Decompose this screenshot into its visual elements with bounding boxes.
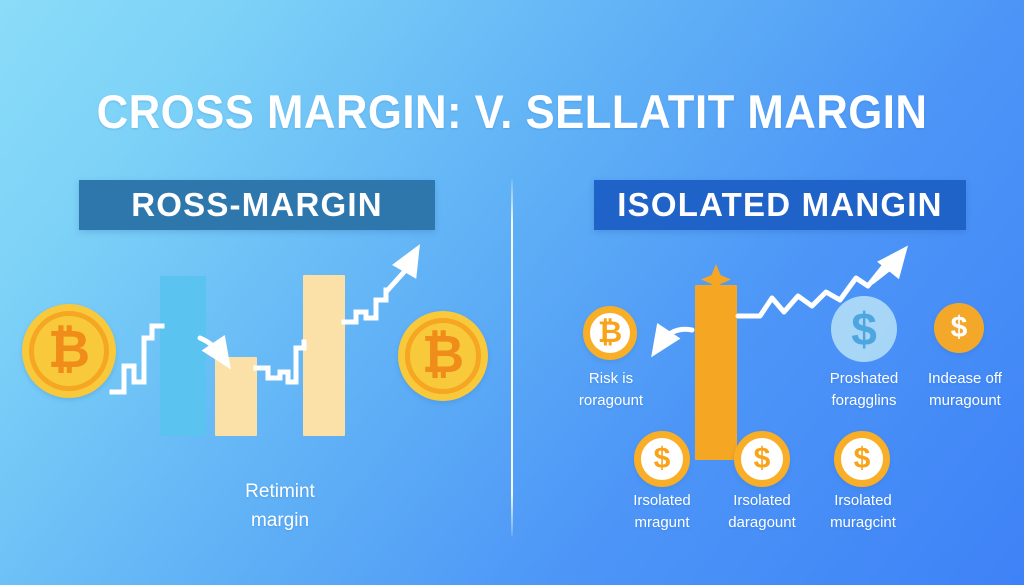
dollar-icon: $ [854, 444, 871, 474]
coin-btc-risk: ₿ [583, 306, 637, 360]
banner-cross-margin: ROSS-MARGIN [79, 180, 435, 230]
right-up-arrow [872, 258, 898, 282]
dollar-icon: $ [951, 313, 968, 343]
left-step-line-a [112, 326, 162, 392]
page-title: CROSS MARGIN: V. SELLATIT MARGIN [36, 84, 988, 139]
bitcoin-coin-right: ₿ [398, 311, 488, 401]
label-risk: Risk is roragount [563, 368, 659, 412]
label-line-2: roragount [563, 390, 659, 412]
label-line-1: Irsolated [710, 490, 814, 512]
bitcoin-icon: ₿ [422, 329, 464, 381]
label-line-1: Irsolated [812, 490, 914, 512]
left-step-line-c [344, 290, 386, 322]
bitcoin-icon: ₿ [48, 324, 90, 376]
label-line-1: Irsolated [613, 490, 711, 512]
infographic-canvas: CROSS MARGIN: V. SELLATIT MARGIN ROSS-MA… [0, 0, 1024, 585]
label-proshated: Proshated foragglins [812, 368, 916, 412]
dollar-icon: $ [754, 444, 771, 474]
label-isolated-1: Irsolated mragunt [613, 490, 711, 534]
bitcoin-coin-left: ₿ [22, 304, 116, 398]
left-step-line-b [256, 342, 304, 382]
coin-usd-2: $ [734, 431, 790, 487]
label-isolated-2: Irsolated daragount [710, 490, 814, 534]
label-line-2: muragount [916, 390, 1014, 412]
coin-pale-proshated: $ [831, 296, 897, 362]
panel-divider [511, 180, 513, 536]
dollar-icon: $ [654, 444, 671, 474]
dollar-icon: $ [851, 306, 877, 352]
label-line-1: Indease off [916, 368, 1014, 390]
coin-usd-3: $ [834, 431, 890, 487]
label-line-2: muragcint [812, 512, 914, 534]
caption-line-2: margin [180, 507, 380, 536]
banner-isolated-margin: ISOLATED MANGIN [594, 180, 966, 230]
label-line-2: foragglins [812, 390, 916, 412]
bitcoin-icon: ₿ [598, 318, 622, 348]
label-line-2: mragunt [613, 512, 711, 534]
right-left-arrow [660, 329, 692, 344]
left-up-arrow [386, 258, 412, 292]
label-line-2: daragount [710, 512, 814, 534]
caption-retimint-margin: Retimint margin [180, 478, 380, 535]
coin-usd-1: $ [634, 431, 690, 487]
coin-solid-indease: $ [934, 303, 984, 353]
label-line-1: Risk is [563, 368, 659, 390]
bar-cream-tall [303, 275, 345, 436]
label-line-1: Proshated [812, 368, 916, 390]
column-orange [695, 285, 737, 460]
bar-blue-tall [160, 276, 206, 436]
label-indease: Indease off muragount [916, 368, 1014, 412]
caption-line-1: Retimint [180, 478, 380, 507]
label-isolated-3: Irsolated muragcint [812, 490, 914, 534]
bar-cream-short [215, 357, 257, 436]
